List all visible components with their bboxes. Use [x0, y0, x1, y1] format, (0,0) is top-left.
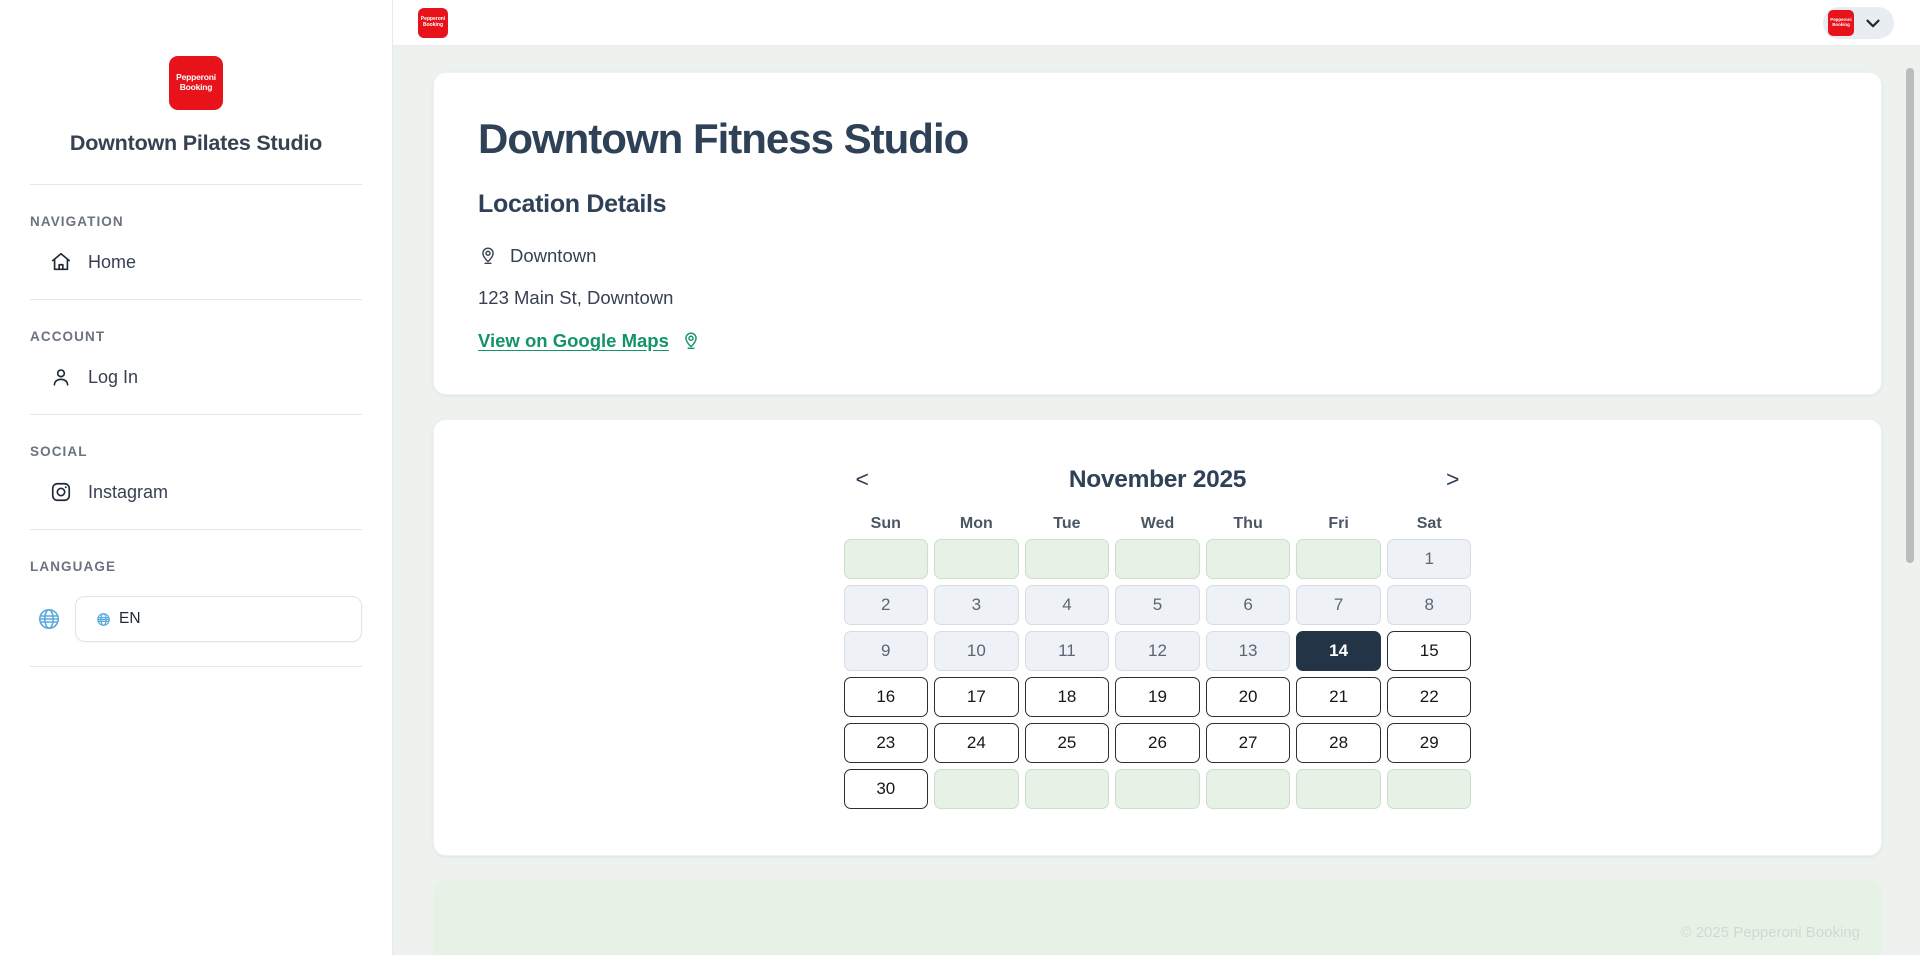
section-label-language: LANGUAGE [30, 559, 362, 574]
sidebar-item-home[interactable]: Home [30, 249, 362, 275]
calendar-day-6: 6 [1206, 585, 1291, 625]
sidebar-divider-2 [30, 299, 362, 300]
calendar-day-blank [934, 539, 1019, 579]
sidebar-item-instagram[interactable]: Instagram [30, 479, 362, 505]
calendar-day-blank [934, 769, 1019, 809]
calendar-month-title: November 2025 [1069, 466, 1246, 494]
topbar-logo[interactable]: Pepperoni Booking [418, 8, 448, 38]
calendar-day-21[interactable]: 21 [1296, 677, 1381, 717]
calendar-grid: SunMonTueWedThuFriSat 123456789101112131… [844, 515, 1472, 809]
calendar-day-14[interactable]: 14 [1296, 631, 1381, 671]
calendar-day-22[interactable]: 22 [1387, 677, 1472, 717]
calendar-day-26[interactable]: 26 [1115, 723, 1200, 763]
calendar-week-row: 9101112131415 [844, 631, 1472, 671]
sidebar-item-home-label: Home [88, 252, 136, 273]
calendar-week-row: 2345678 [844, 585, 1472, 625]
sidebar-divider-3 [30, 414, 362, 415]
calendar-day-23[interactable]: 23 [844, 723, 929, 763]
globe-small-icon [96, 612, 111, 627]
topbar-logo-line2: Booking [423, 23, 443, 29]
calendar-day-15[interactable]: 15 [1387, 631, 1472, 671]
calendar-day-5: 5 [1115, 585, 1200, 625]
section-label-navigation: NAVIGATION [30, 214, 362, 229]
sidebar-brand: Pepperoni Booking Downtown Pilates Studi… [30, 0, 362, 156]
bottom-panel [433, 880, 1882, 955]
main-panel: Pepperoni Booking Pepperoni Booking Down… [393, 0, 1920, 955]
calendar-day-2: 2 [844, 585, 929, 625]
location-details-heading: Location Details [478, 190, 1837, 219]
calendar-day-29[interactable]: 29 [1387, 723, 1472, 763]
studio-name: Downtown Pilates Studio [70, 131, 322, 156]
calendar-day-24[interactable]: 24 [934, 723, 1019, 763]
app-root: Pepperoni Booking Downtown Pilates Studi… [0, 0, 1920, 955]
location-name: Downtown [510, 245, 596, 267]
home-icon [50, 251, 72, 273]
calendar-day-3: 3 [934, 585, 1019, 625]
page-title: Downtown Fitness Studio [478, 116, 1837, 162]
section-label-social: SOCIAL [30, 444, 362, 459]
view-on-google-maps-label: View on Google Maps [478, 330, 669, 352]
sidebar: Pepperoni Booking Downtown Pilates Studi… [0, 0, 393, 955]
brand-logo[interactable]: Pepperoni Booking [169, 56, 223, 110]
sidebar-divider-1 [30, 184, 362, 185]
sidebar-item-login[interactable]: Log In [30, 364, 362, 390]
calendar-prev-month-button[interactable]: < [844, 464, 881, 495]
brand-logo-line2: Booking [180, 83, 213, 93]
calendar-day-blank [1296, 539, 1381, 579]
calendar-weekday: Fri [1296, 515, 1381, 539]
calendar-day-7: 7 [1296, 585, 1381, 625]
calendar-day-9: 9 [844, 631, 929, 671]
globe-icon [37, 607, 61, 631]
calendar-weekday: Sat [1387, 515, 1472, 539]
calendar-day-blank [1387, 769, 1472, 809]
calendar-card: < November 2025 > SunMonTueWedThuFriSat … [433, 419, 1882, 856]
sidebar-item-login-label: Log In [88, 367, 138, 388]
location-name-row: Downtown [478, 245, 1837, 267]
calendar-day-1: 1 [1387, 539, 1472, 579]
language-select[interactable]: EN [75, 596, 362, 642]
content-scroll-area: Downtown Fitness Studio Location Details… [393, 46, 1920, 955]
calendar-weekday: Wed [1115, 515, 1200, 539]
calendar-day-blank [1296, 769, 1381, 809]
scrollbar-thumb[interactable] [1906, 68, 1914, 563]
calendar-day-30[interactable]: 30 [844, 769, 929, 809]
user-icon [50, 366, 72, 388]
location-address: 123 Main St, Downtown [478, 287, 1837, 309]
sidebar-item-instagram-label: Instagram [88, 482, 168, 503]
calendar-weekday: Thu [1206, 515, 1291, 539]
scrollbar-track[interactable] [1904, 46, 1916, 955]
calendar-day-18[interactable]: 18 [1025, 677, 1110, 717]
calendar-day-4: 4 [1025, 585, 1110, 625]
language-selected-value: EN [119, 610, 141, 628]
calendar-week-row: 16171819202122 [844, 677, 1472, 717]
calendar-day-10: 10 [934, 631, 1019, 671]
chevron-down-icon [1862, 12, 1884, 34]
calendar-day-8: 8 [1387, 585, 1472, 625]
section-label-account: ACCOUNT [30, 329, 362, 344]
view-on-google-maps-link[interactable]: View on Google Maps [478, 330, 701, 352]
calendar-day-blank [1115, 539, 1200, 579]
calendar-week-row: 30 [844, 769, 1472, 809]
account-avatar: Pepperoni Booking [1828, 10, 1854, 36]
calendar-weeks: 1234567891011121314151617181920212223242… [844, 539, 1472, 809]
calendar-weekday-row: SunMonTueWedThuFriSat [844, 515, 1472, 539]
calendar-day-blank [1025, 769, 1110, 809]
language-row: EN [30, 596, 362, 642]
calendar-day-12: 12 [1115, 631, 1200, 671]
sidebar-divider-4 [30, 529, 362, 530]
calendar-day-27[interactable]: 27 [1206, 723, 1291, 763]
calendar-day-16[interactable]: 16 [844, 677, 929, 717]
calendar-day-blank [1206, 539, 1291, 579]
calendar-day-13: 13 [1206, 631, 1291, 671]
account-menu-button[interactable]: Pepperoni Booking [1823, 7, 1894, 39]
calendar-day-25[interactable]: 25 [1025, 723, 1110, 763]
calendar-day-blank [844, 539, 929, 579]
map-pin-icon [478, 246, 498, 266]
calendar-weekday: Mon [934, 515, 1019, 539]
account-avatar-line2: Booking [1832, 23, 1850, 28]
location-card: Downtown Fitness Studio Location Details… [433, 72, 1882, 395]
instagram-icon [50, 481, 72, 503]
calendar-day-19[interactable]: 19 [1115, 677, 1200, 717]
calendar-day-blank [1025, 539, 1110, 579]
calendar-day-28[interactable]: 28 [1296, 723, 1381, 763]
calendar-weekday: Sun [844, 515, 929, 539]
calendar-header: < November 2025 > [844, 464, 1472, 495]
calendar-week-row: 1 [844, 539, 1472, 579]
calendar-weekday: Tue [1025, 515, 1110, 539]
calendar-day-blank [1206, 769, 1291, 809]
map-pin-link-icon [681, 331, 701, 351]
calendar-day-20[interactable]: 20 [1206, 677, 1291, 717]
calendar-next-month-button[interactable]: > [1434, 464, 1471, 495]
calendar-day-11: 11 [1025, 631, 1110, 671]
sidebar-divider-5 [30, 666, 362, 667]
calendar-week-row: 23242526272829 [844, 723, 1472, 763]
calendar-day-blank [1115, 769, 1200, 809]
top-bar: Pepperoni Booking Pepperoni Booking [393, 0, 1920, 46]
calendar-day-17[interactable]: 17 [934, 677, 1019, 717]
